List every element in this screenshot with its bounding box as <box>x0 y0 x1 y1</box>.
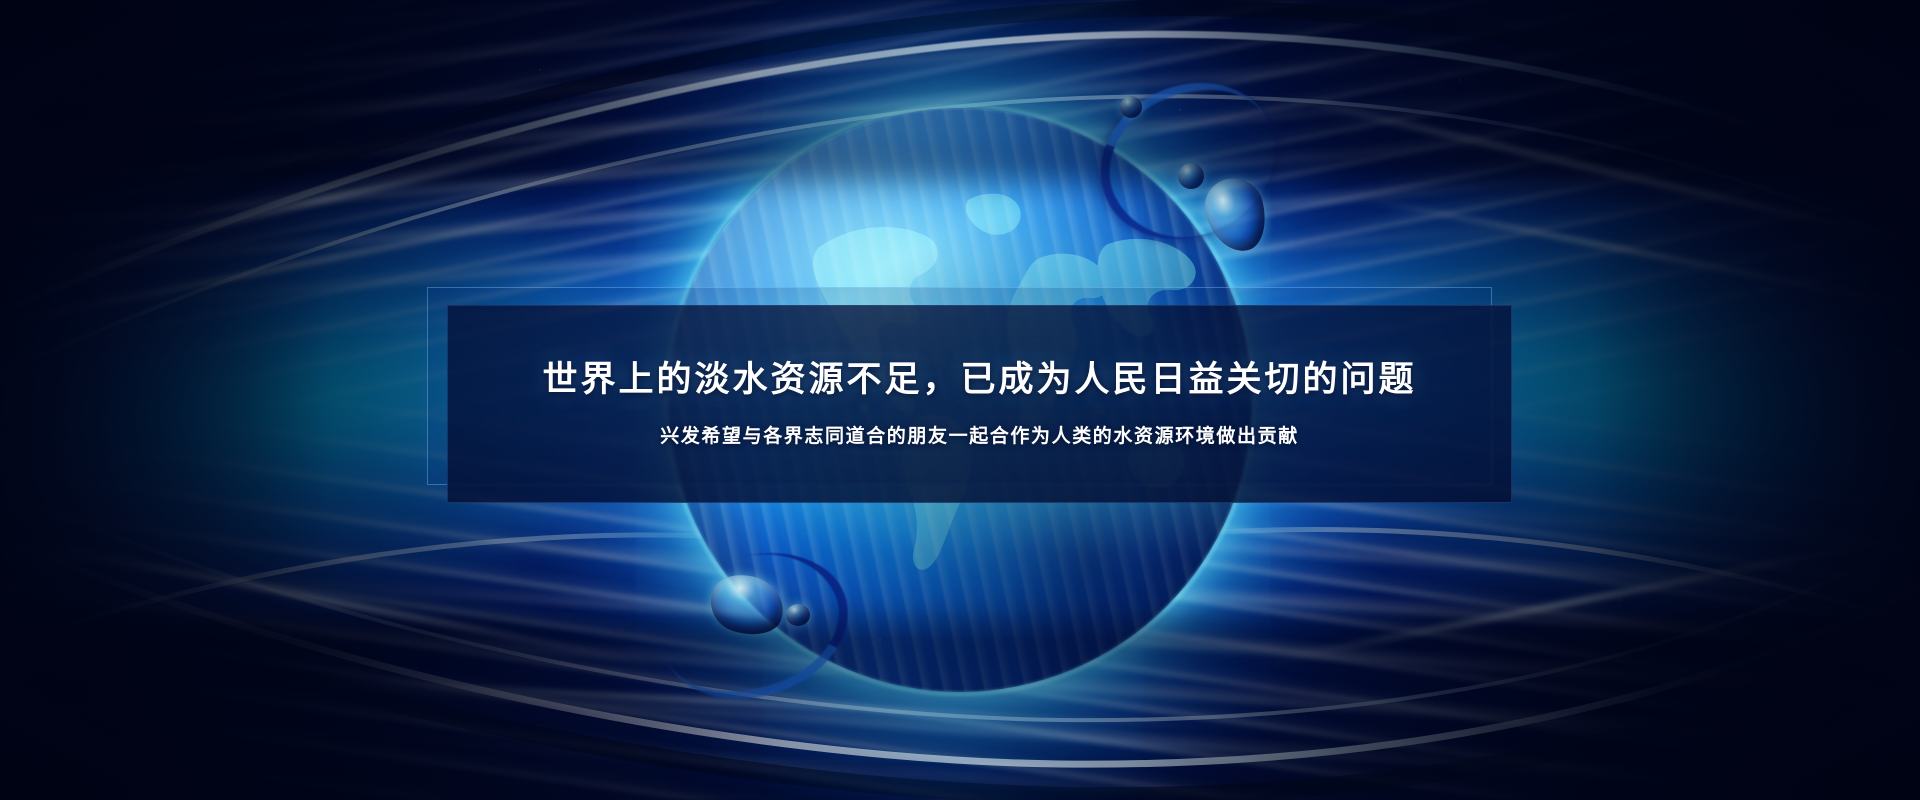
headline-panel: 世界上的淡水资源不足，已成为人民日益关切的问题 兴发希望与各界志同道合的朋友一起… <box>427 287 1512 503</box>
panel-content-box: 世界上的淡水资源不足，已成为人民日益关切的问题 兴发希望与各界志同道合的朋友一起… <box>447 305 1512 503</box>
hero-banner: 世界上的淡水资源不足，已成为人民日益关切的问题 兴发希望与各界志同道合的朋友一起… <box>0 0 1920 800</box>
page-subtitle: 兴发希望与各界志同道合的朋友一起合作为人类的水资源环境做出贡献 <box>660 424 1299 451</box>
page-title: 世界上的淡水资源不足，已成为人民日益关切的问题 <box>542 358 1416 402</box>
